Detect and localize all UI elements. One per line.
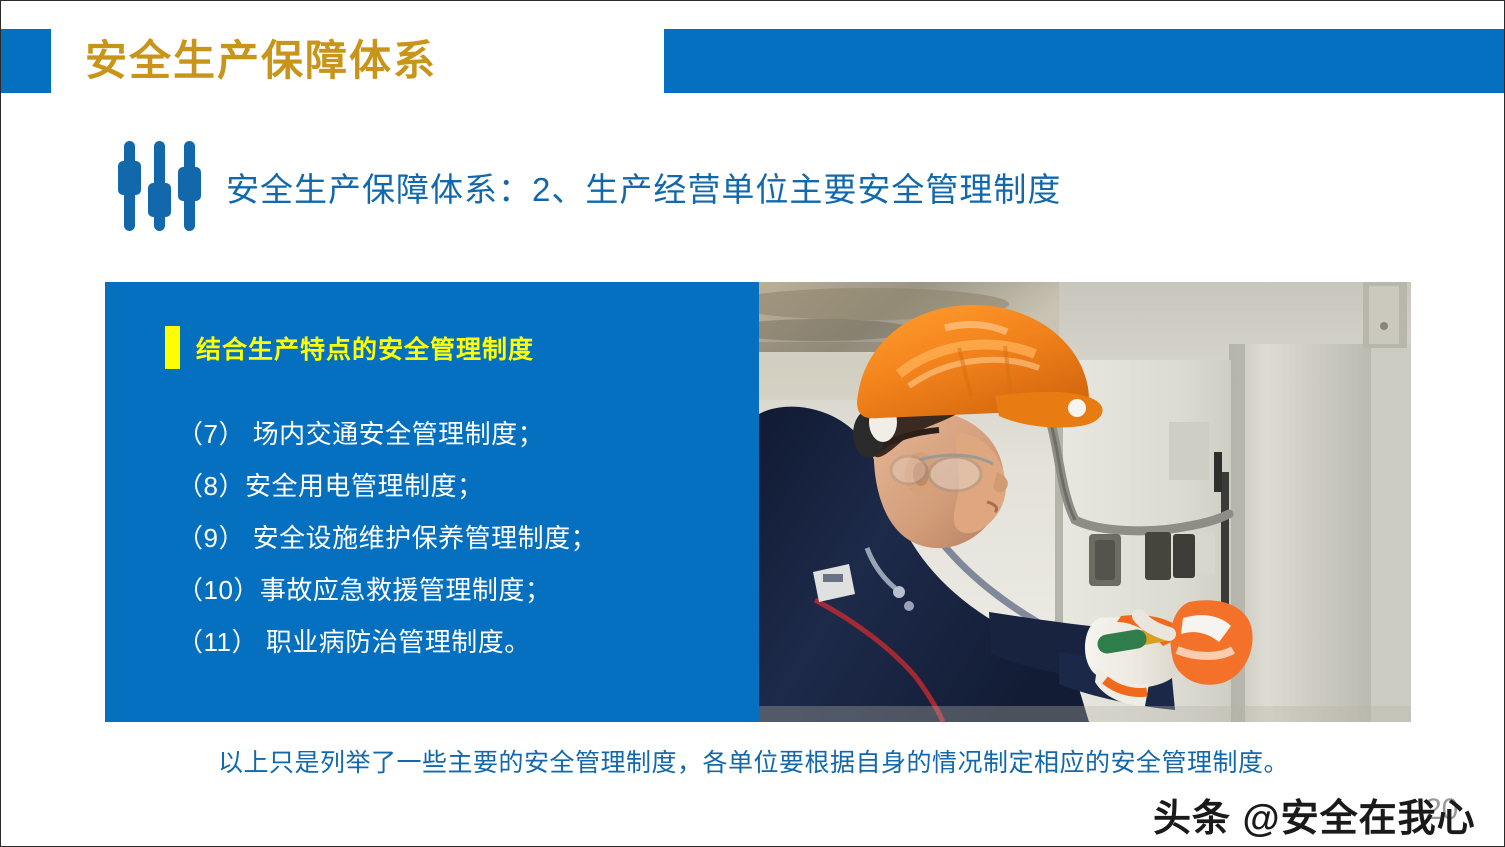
content-panel: 结合生产特点的安全管理制度 （7） 场内交通安全管理制度； （8）安全用电管理制… bbox=[105, 282, 1411, 722]
slide-canvas: 安全生产保障体系 安全生产保障体系：2、生产经营单位主要安全管理制度 bbox=[0, 0, 1505, 847]
list-item: （7） 场内交通安全管理制度； bbox=[177, 408, 777, 460]
list-item: （9） 安全设施维护保养管理制度； bbox=[177, 512, 777, 564]
footer-caption: 以上只是列举了一些主要的安全管理制度，各单位要根据自身的情况制定相应的安全管理制… bbox=[1, 743, 1505, 779]
list-item: （11） 职业病防治管理制度。 bbox=[177, 616, 777, 668]
headline-accent-bar bbox=[165, 326, 180, 369]
list-item: （10）事故应急救援管理制度； bbox=[177, 564, 777, 616]
section-heading-text: 安全生产保障体系：2、生产经营单位主要安全管理制度 bbox=[226, 163, 1061, 211]
header-accent-block-left bbox=[1, 29, 51, 93]
header-accent-block-right bbox=[664, 29, 1505, 93]
page-title: 安全生产保障体系 bbox=[85, 29, 437, 93]
section-heading-row: 安全生产保障体系：2、生产经营单位主要安全管理制度 bbox=[116, 139, 1061, 235]
worker-photo bbox=[759, 282, 1411, 722]
sliders-icon bbox=[116, 139, 208, 235]
regulation-list: （7） 场内交通安全管理制度； （8）安全用电管理制度； （9） 安全设施维护保… bbox=[177, 408, 777, 668]
panel-headline: 结合生产特点的安全管理制度 bbox=[165, 326, 534, 369]
list-item: （8）安全用电管理制度； bbox=[177, 460, 777, 512]
panel-headline-text: 结合生产特点的安全管理制度 bbox=[196, 330, 534, 366]
watermark: 头条 @安全在我心 bbox=[1153, 787, 1476, 842]
